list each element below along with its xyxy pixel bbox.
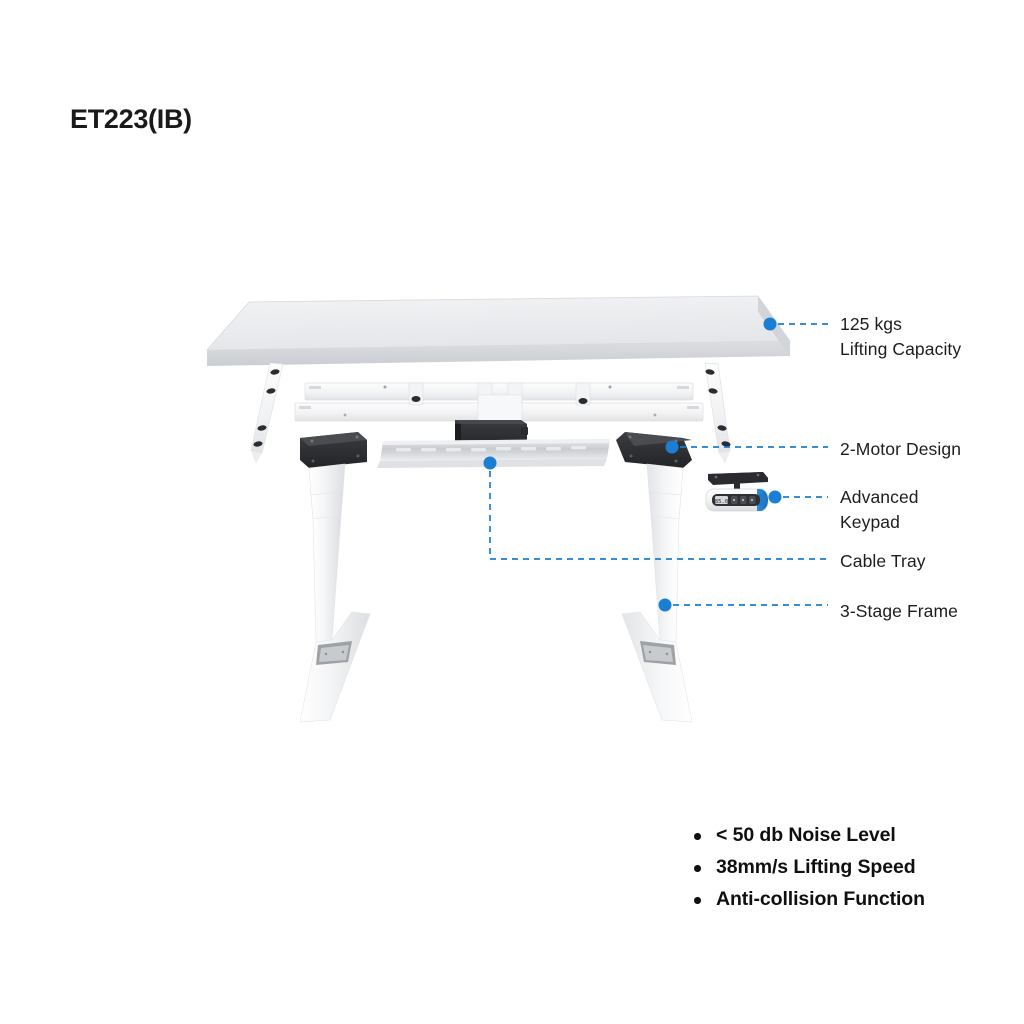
left-mounting-bracket [251,363,283,464]
callout-label-advanced-keypad: Advanced Keypad [840,485,919,535]
desktop-panel [207,296,790,366]
list-item: < 50 db Noise Level [688,822,925,850]
feature-list: < 50 db Noise Level 38mm/s Lifting Speed… [688,822,925,918]
right-leg-column [616,432,692,722]
product-diagram-canvas: 85.0 ET223(IB) 125 kgs Lifting Capacity [0,0,1024,1024]
left-foot [300,612,370,722]
right-motor-housing [616,432,692,468]
dot-advanced-keypad [769,491,782,504]
list-item: 38mm/s Lifting Speed [688,854,925,882]
keypad-display-value: 85.0 [715,499,728,505]
callout-label-lifting-capacity: 125 kgs Lifting Capacity [840,312,961,362]
dot-stage-frame [659,599,672,612]
callout-label-motor-design: 2-Motor Design [840,437,961,462]
dot-lifting-capacity [764,318,777,331]
dot-cable-tray [484,457,497,470]
left-motor-housing [300,432,367,468]
list-item: Anti-collision Function [688,886,925,914]
right-foot [622,612,692,722]
dot-motor-design [666,441,679,454]
callout-label-stage-frame: 3-Stage Frame [840,599,958,624]
left-leg-column [300,432,370,722]
keypad-controller: 85.0 [706,472,768,511]
page-title: ET223(IB) [70,104,192,135]
right-mounting-bracket [705,363,731,464]
callout-label-cable-tray: Cable Tray [840,549,926,574]
